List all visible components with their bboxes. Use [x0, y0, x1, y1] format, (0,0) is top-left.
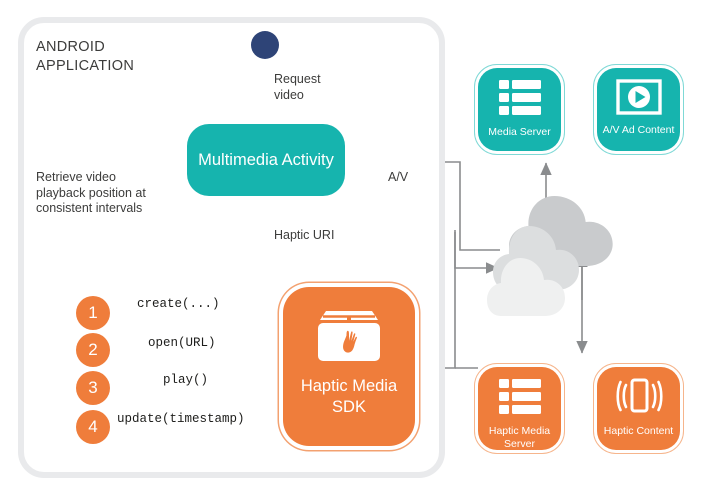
tile-av-ad-content[interactable]: A/V Ad Content: [597, 68, 680, 151]
step-call-label-1: create(...): [137, 297, 220, 311]
step-number: 1: [88, 303, 97, 323]
tile-haptic-content[interactable]: Haptic Content: [597, 367, 680, 450]
tile-media-server[interactable]: Media Server: [478, 68, 561, 151]
tile-caption: Haptic Content: [604, 425, 673, 438]
tile-caption: Haptic Media Server: [478, 425, 561, 450]
haptic-media-sdk-label: Haptic Media SDK: [283, 376, 415, 418]
server-rack-icon: [498, 79, 542, 122]
multimedia-activity-node[interactable]: Multimedia Activity: [187, 124, 345, 196]
step-call-label-2: open(URL): [148, 336, 216, 350]
video-play-icon: [616, 79, 662, 120]
label-av: A/V: [388, 170, 408, 186]
step-circle-4[interactable]: 4: [76, 410, 110, 444]
box-with-hand-icon: [314, 307, 384, 370]
tile-caption: Media Server: [488, 126, 550, 139]
diagram-canvas: ANDROID APPLICATION Multimedia Activity …: [0, 0, 722, 497]
label-request-video: Request video: [274, 72, 321, 103]
step-number: 3: [88, 378, 97, 398]
step-number: 2: [88, 340, 97, 360]
step-number: 4: [88, 417, 97, 437]
step-circle-3[interactable]: 3: [76, 371, 110, 405]
step-call-label-4: update(timestamp): [117, 412, 245, 426]
label-haptic-uri: Haptic URI: [274, 228, 334, 244]
haptic-media-sdk-node[interactable]: Haptic Media SDK: [283, 287, 415, 446]
step-call-label-3: play(): [163, 373, 208, 387]
label-retrieve-video-playback: Retrieve video playback position at cons…: [36, 170, 146, 217]
server-rack-icon: [498, 378, 542, 421]
tile-haptic-media-server[interactable]: Haptic Media Server: [478, 367, 561, 450]
step-circle-1[interactable]: 1: [76, 296, 110, 330]
tile-caption: A/V Ad Content: [603, 124, 675, 137]
step-circle-2[interactable]: 2: [76, 333, 110, 367]
multimedia-activity-label: Multimedia Activity: [198, 150, 334, 171]
vibrating-phone-icon: [613, 378, 665, 421]
